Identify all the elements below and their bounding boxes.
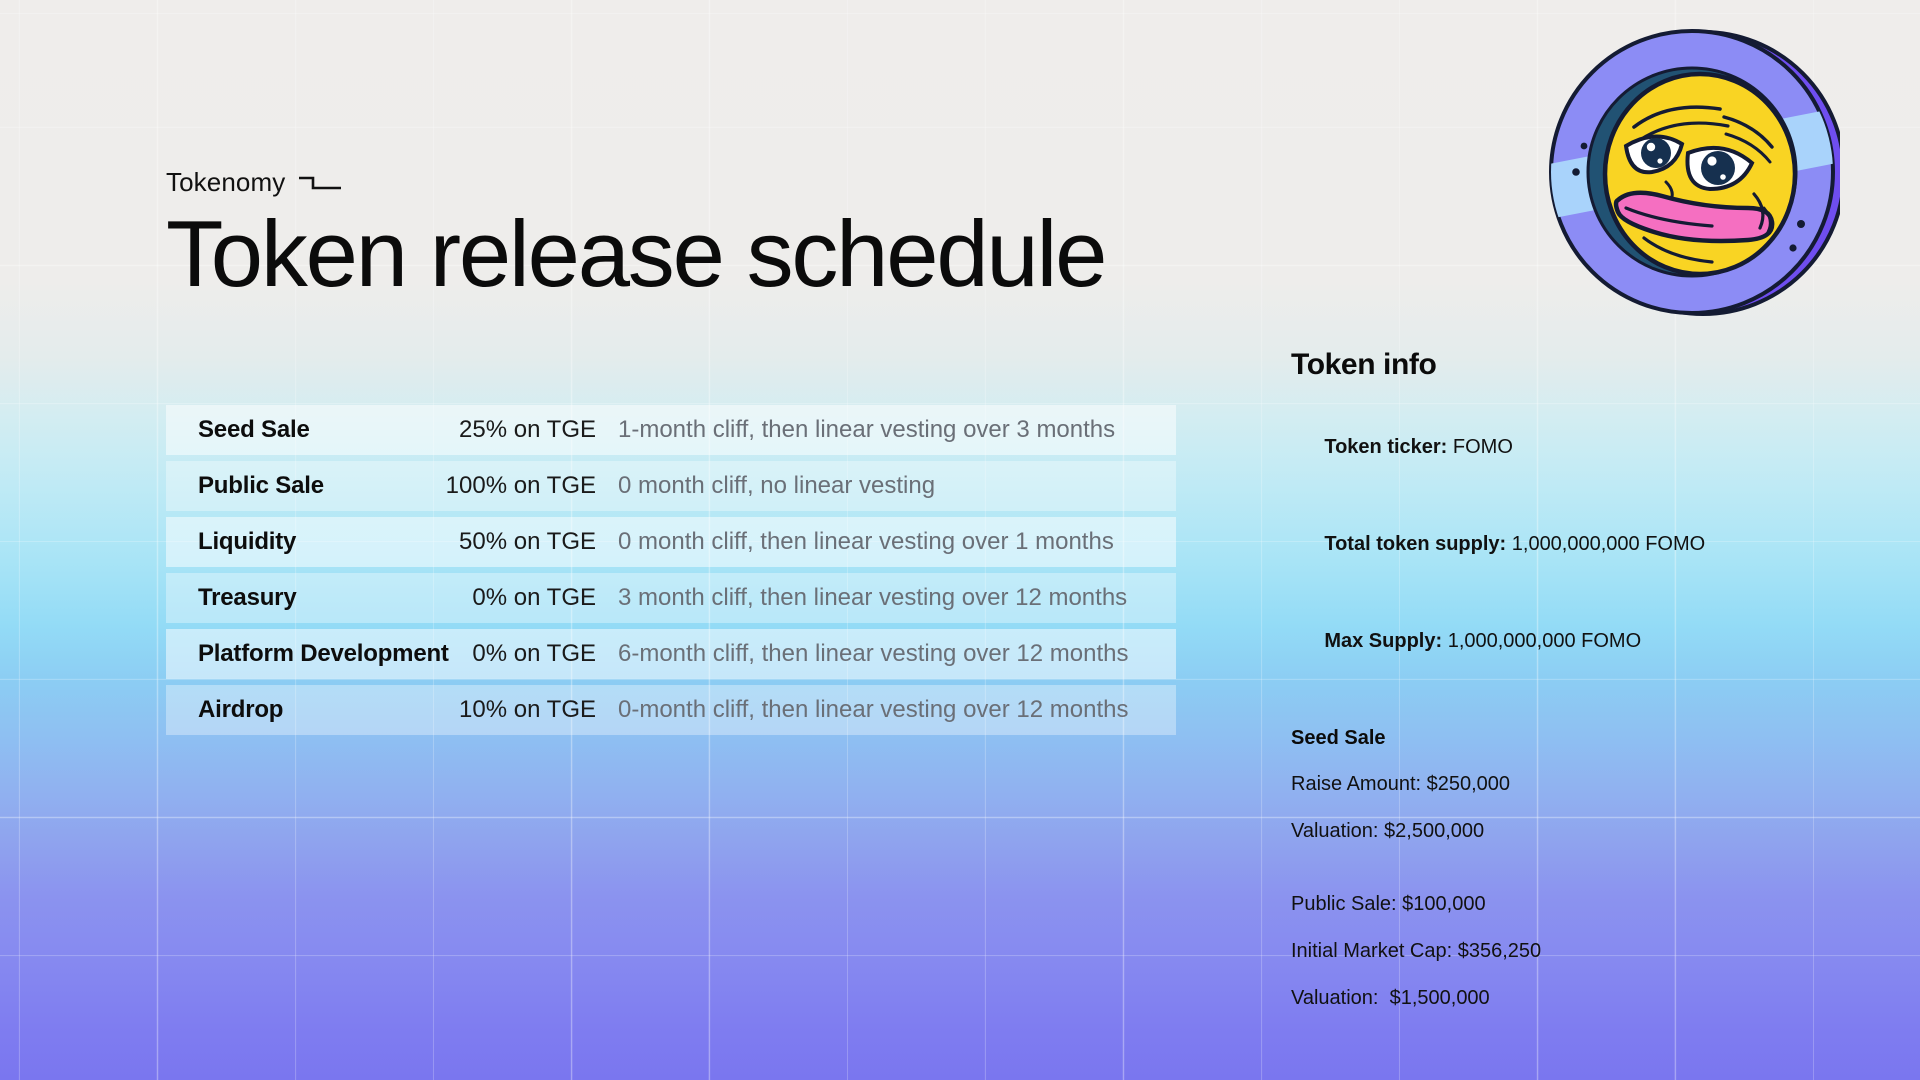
initial-market-cap: Initial Market Cap: $356,250: [1291, 939, 1851, 964]
row-tge-unlock: 0% on TGE: [438, 584, 618, 612]
row-tge-unlock: 10% on TGE: [438, 696, 618, 724]
row-tge-unlock: 100% on TGE: [438, 472, 618, 500]
token-ticker-value: FOMO: [1447, 436, 1513, 458]
row-allocation-name: Public Sale: [198, 472, 438, 500]
token-ticker-label: Token ticker:: [1324, 436, 1447, 458]
table-row: Seed Sale 25% on TGE 1-month cliff, then…: [166, 405, 1176, 455]
total-supply-line: Total token supply: 1,000,000,000 FOMO: [1291, 507, 1851, 582]
seed-sale-heading: Seed Sale: [1291, 727, 1851, 750]
row-vesting-terms: 1-month cliff, then linear vesting over …: [618, 416, 1176, 444]
slide-canvas: Tokenomy Token release schedule Seed Sal…: [0, 0, 1920, 1080]
total-supply-value: 1,000,000,000 FOMO: [1506, 533, 1705, 555]
page-title: Token release schedule: [166, 203, 1105, 305]
info-spacer: [1291, 701, 1851, 727]
max-supply-line: Max Supply: 1,000,000,000 FOMO: [1291, 604, 1851, 679]
token-release-table: Seed Sale 25% on TGE 1-month cliff, then…: [166, 405, 1176, 741]
row-vesting-terms: 6-month cliff, then linear vesting over …: [618, 640, 1176, 668]
row-vesting-terms: 0-month cliff, then linear vesting over …: [618, 696, 1176, 724]
pepe-coin-logo: [1548, 22, 1840, 324]
token-info-panel: Token info Token ticker: FOMO Total toke…: [1291, 348, 1851, 1033]
seed-valuation: Valuation: $2,500,000: [1291, 819, 1851, 844]
max-supply-value: 1,000,000,000 FOMO: [1442, 630, 1641, 652]
table-row: Platform Development 0% on TGE 6-month c…: [166, 629, 1176, 679]
row-allocation-name: Airdrop: [198, 696, 438, 724]
row-tge-unlock: 25% on TGE: [438, 416, 618, 444]
row-tge-unlock: 50% on TGE: [438, 528, 618, 556]
table-row: Public Sale 100% on TGE 0 month cliff, n…: [166, 461, 1176, 511]
max-supply-label: Max Supply:: [1324, 630, 1442, 652]
pepe-coin-icon: [1548, 22, 1840, 324]
table-row: Treasury 0% on TGE 3 month cliff, then l…: [166, 573, 1176, 623]
row-allocation-name: Treasury: [198, 584, 438, 612]
row-vesting-terms: 3 month cliff, then linear vesting over …: [618, 584, 1176, 612]
step-down-line-icon: [299, 172, 341, 194]
seed-raise-amount: Raise Amount: $250,000: [1291, 772, 1851, 797]
public-sale-amount: Public Sale: $100,000: [1291, 892, 1851, 917]
total-supply-label: Total token supply:: [1324, 533, 1506, 555]
token-info-heading: Token info: [1291, 348, 1851, 382]
table-row: Airdrop 10% on TGE 0-month cliff, then l…: [166, 685, 1176, 735]
table-row: Liquidity 50% on TGE 0 month cliff, then…: [166, 517, 1176, 567]
info-spacer: [1291, 866, 1851, 892]
row-allocation-name: Seed Sale: [198, 416, 438, 444]
eyebrow: Tokenomy: [166, 167, 341, 198]
row-allocation-name: Platform Development: [198, 640, 438, 668]
row-allocation-name: Liquidity: [198, 528, 438, 556]
row-vesting-terms: 0 month cliff, then linear vesting over …: [618, 528, 1176, 556]
public-valuation: Valuation: $1,500,000: [1291, 986, 1851, 1011]
row-vesting-terms: 0 month cliff, no linear vesting: [618, 472, 1176, 500]
eyebrow-label: Tokenomy: [166, 167, 285, 198]
token-ticker-line: Token ticker: FOMO: [1291, 410, 1851, 485]
row-tge-unlock: 0% on TGE: [438, 640, 618, 668]
